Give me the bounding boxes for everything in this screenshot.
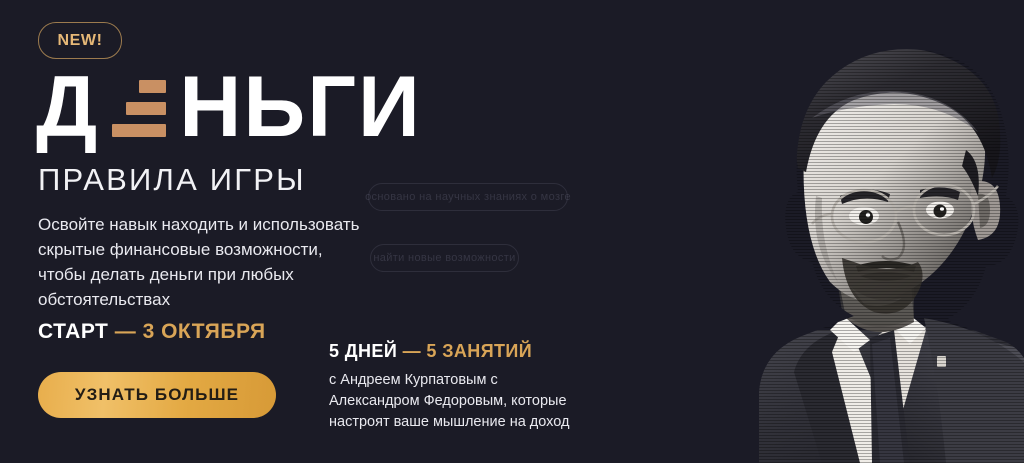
ghost-pill-new-opportunities: найти новые возможности	[370, 244, 519, 272]
money-stack-bar-1	[139, 80, 166, 93]
start-date-line: СТАРТ — 3 ОКТЯБРЯ	[38, 320, 266, 344]
portrait-photo	[554, 0, 1024, 463]
course-format-title: 5 ДНЕЙ — 5 ЗАНЯТИЙ	[329, 341, 532, 362]
start-label: СТАРТ	[38, 320, 108, 343]
promo-banner: NEW! Д НЬГИ ПРАВИЛА ИГРЫ Освойте навык н…	[0, 0, 1024, 463]
logo-wordmark: Д НЬГИ	[36, 68, 422, 146]
ghost-pill-label: найти новые возможности	[373, 252, 515, 264]
ghost-pill-label: основано на научных знаниях о мозге	[365, 191, 571, 203]
money-stack-bar-3	[112, 124, 166, 137]
new-badge-label: NEW!	[57, 32, 102, 50]
course-description: с Андреем Курпатовым с Александром Федор…	[329, 370, 587, 433]
lead-paragraph: Освойте навык находить и использовать ск…	[38, 212, 368, 312]
course-separator: —	[403, 341, 421, 361]
new-badge: NEW!	[38, 22, 122, 59]
money-stack-icon	[112, 75, 166, 137]
logo-letter-before: Д	[36, 68, 99, 146]
start-separator: —	[115, 320, 137, 343]
logo-letters-after: НЬГИ	[179, 68, 421, 146]
page-subtitle: ПРАВИЛА ИГРЫ	[38, 162, 306, 198]
course-lessons: 5 ЗАНЯТИЙ	[426, 341, 532, 361]
ghost-pill-brain-science: основано на научных знаниях о мозге	[368, 183, 568, 211]
course-days: 5 ДНЕЙ	[329, 341, 397, 361]
learn-more-button[interactable]: УЗНАТЬ БОЛЬШЕ	[38, 372, 276, 418]
start-date: 3 ОКТЯБРЯ	[143, 320, 266, 343]
money-stack-bar-2	[126, 102, 166, 115]
